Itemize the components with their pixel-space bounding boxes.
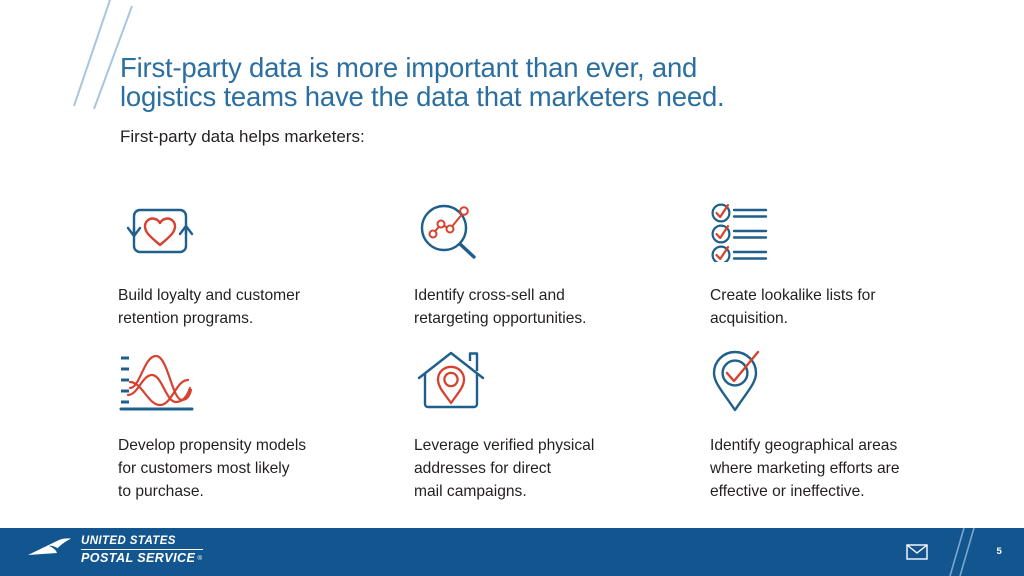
footer-slash-lines-icon	[946, 528, 980, 576]
benefit-item-propensity: Develop propensity models for customers …	[118, 350, 414, 503]
benefit-line: effective or ineffective.	[710, 481, 948, 504]
page-title-line-1: First-party data is more important than …	[120, 54, 740, 83]
page-number: 5	[997, 546, 1002, 557]
benefit-line: addresses for direct	[414, 458, 664, 481]
benefits-grid: Build loyalty and customer retention pro…	[118, 200, 948, 503]
envelope-icon[interactable]	[906, 544, 928, 560]
benefit-line: Develop propensity models	[118, 435, 368, 458]
benefit-text-geography: Identify geographical areas where market…	[710, 435, 948, 503]
subtitle: First-party data helps marketers:	[120, 127, 365, 147]
benefit-line: Identify cross-sell and	[414, 285, 664, 308]
benefit-icon-wrap	[710, 350, 948, 412]
checklist-icon	[710, 200, 780, 262]
benefit-icon-wrap	[414, 200, 710, 262]
benefit-line: where marketing efforts are	[710, 458, 948, 481]
benefit-text-propensity: Develop propensity models for customers …	[118, 435, 368, 503]
usps-wordmark: UNITED STATES POSTAL SERVICE®	[81, 536, 203, 565]
benefit-line: retargeting opportunities.	[414, 308, 664, 331]
registered-mark-icon: ®	[197, 555, 202, 562]
benefit-line: for customers most likely	[118, 458, 368, 481]
benefit-item-lookalike: Create lookalike lists for acquisition.	[710, 200, 948, 350]
page-title: First-party data is more important than …	[120, 54, 740, 112]
benefit-line: retention programs.	[118, 308, 368, 331]
benefit-text-lookalike: Create lookalike lists for acquisition.	[710, 285, 948, 331]
footer-right-group: 5	[884, 528, 1024, 576]
page-title-line-2: logistics teams have the data that marke…	[120, 83, 740, 112]
benefit-icon-wrap	[118, 200, 414, 262]
slide: First-party data is more important than …	[0, 0, 1024, 576]
benefit-text-loyalty: Build loyalty and customer retention pro…	[118, 285, 368, 331]
benefit-item-cross-sell: Identify cross-sell and retargeting oppo…	[414, 200, 710, 350]
benefit-line: Create lookalike lists for	[710, 285, 948, 308]
benefit-line: Build loyalty and customer	[118, 285, 368, 308]
usps-logo[interactable]: UNITED STATES POSTAL SERVICE®	[26, 536, 203, 565]
benefit-line: to purchase.	[118, 481, 368, 504]
footer-bar: UNITED STATES POSTAL SERVICE® 5	[0, 528, 1024, 576]
magnifier-network-icon	[414, 200, 494, 262]
benefit-text-addresses: Leverage verified physical addresses for…	[414, 435, 664, 503]
benefit-item-loyalty: Build loyalty and customer retention pro…	[118, 200, 414, 350]
benefit-icon-wrap	[710, 200, 948, 262]
benefit-item-geography: Identify geographical areas where market…	[710, 350, 948, 503]
usps-eagle-icon	[26, 536, 74, 564]
propensity-curve-chart-icon	[118, 350, 196, 412]
benefit-item-addresses: Leverage verified physical addresses for…	[414, 350, 710, 503]
benefit-line: mail campaigns.	[414, 481, 664, 504]
benefit-icon-wrap	[118, 350, 414, 412]
loyalty-heart-cycle-icon	[118, 200, 202, 262]
benefit-text-cross-sell: Identify cross-sell and retargeting oppo…	[414, 285, 664, 331]
usps-logo-line-2: POSTAL SERVICE®	[81, 552, 203, 565]
map-pin-check-icon	[710, 350, 776, 412]
usps-logo-line-1: UNITED STATES	[81, 536, 203, 550]
benefit-icon-wrap	[414, 350, 710, 412]
benefit-line: Leverage verified physical	[414, 435, 664, 458]
house-location-pin-icon	[414, 350, 488, 412]
benefit-line: Identify geographical areas	[710, 435, 948, 458]
benefit-line: acquisition.	[710, 308, 948, 331]
